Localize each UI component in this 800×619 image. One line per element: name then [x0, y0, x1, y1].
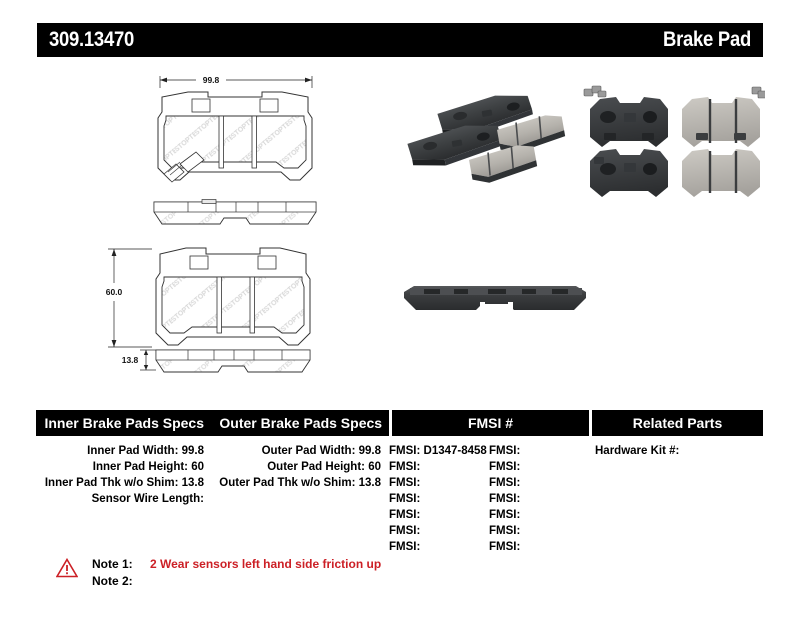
- note-label: Note 2:: [92, 573, 144, 590]
- fmsi-label: FMSI:: [489, 461, 520, 473]
- note-label: Note 1:: [92, 556, 144, 573]
- spec-value: 60: [191, 461, 204, 473]
- pad-edge-view-lower: 13.8: [100, 342, 330, 382]
- dimension-thickness: 13.8: [122, 355, 139, 365]
- inner-specs-column: Inner Pad Width: 99.8 Inner Pad Height: …: [36, 443, 212, 555]
- fmsi-label: FMSI:: [389, 541, 420, 553]
- table-header-group-pads: Inner Brake Pads Specs Outer Brake Pads …: [36, 410, 389, 436]
- fmsi-row: FMSI:: [389, 491, 489, 507]
- technical-drawings: STOPTECH STOPTECH 99.8: [0, 60, 800, 390]
- fmsi-row: FMSI:: [389, 523, 489, 539]
- related-parts-row: Hardware Kit #:: [595, 443, 760, 459]
- fmsi-row: FMSI:: [489, 459, 589, 475]
- fmsi-label: FMSI:: [389, 445, 420, 457]
- pad-edge-view-upper: [140, 198, 330, 230]
- spec-label: Inner Pad Width:: [87, 445, 178, 457]
- fmsi-row: FMSI:: [389, 539, 489, 555]
- spec-row: Sensor Wire Length:: [36, 491, 212, 507]
- fmsi-label: FMSI:: [489, 525, 520, 537]
- table-body: Inner Pad Width: 99.8 Inner Pad Height: …: [36, 443, 763, 555]
- fmsi-label: FMSI:: [489, 509, 520, 521]
- fmsi-row: FMSI:: [489, 507, 589, 523]
- spec-value: 99.8: [182, 445, 204, 457]
- outer-specs-column: Outer Pad Width: 99.8 Outer Pad Height: …: [212, 443, 389, 555]
- fmsi-row: FMSI:: [489, 539, 589, 555]
- dimension-width: 99.8: [203, 75, 220, 85]
- spec-row: Inner Pad Height: 60: [36, 459, 212, 475]
- table-header-row: Inner Brake Pads Specs Outer Brake Pads …: [36, 410, 763, 436]
- spec-label: Sensor Wire Length:: [92, 493, 204, 505]
- fmsi-label: FMSI:: [389, 493, 420, 505]
- fmsi-row: FMSI:: [489, 523, 589, 539]
- fmsi-label: FMSI:: [389, 509, 420, 521]
- note-row: Note 1: 2 Wear sensors left hand side fr…: [92, 556, 381, 573]
- spec-row: Outer Pad Width: 99.8: [212, 443, 389, 459]
- product-type: Brake Pad: [663, 28, 751, 52]
- spec-value: 99.8: [359, 445, 381, 457]
- part-number: 309.13470: [49, 28, 134, 52]
- spec-value: 13.8: [359, 477, 381, 489]
- spec-label: Outer Pad Height:: [267, 461, 365, 473]
- table-header-inner-specs: Inner Brake Pads Specs: [36, 415, 213, 431]
- spec-row: Inner Pad Thk w/o Shim: 13.8: [36, 475, 212, 491]
- spec-label: Outer Pad Width:: [262, 445, 356, 457]
- note-row: Note 2:: [92, 573, 381, 590]
- spec-value: 60: [368, 461, 381, 473]
- related-parts-label: Hardware Kit #:: [595, 445, 679, 457]
- fmsi-label: FMSI:: [389, 477, 420, 489]
- notes-section: Note 1: 2 Wear sensors left hand side fr…: [56, 556, 381, 590]
- spec-row: Inner Pad Width: 99.8: [36, 443, 212, 459]
- product-photo-angled: [392, 88, 572, 198]
- dimension-height: 60.0: [106, 287, 123, 297]
- spec-label: Outer Pad Thk w/o Shim:: [219, 477, 355, 489]
- table-header-fmsi: FMSI #: [392, 410, 589, 436]
- warning-triangle-icon: [56, 558, 78, 578]
- fmsi-label: FMSI:: [389, 461, 420, 473]
- fmsi-row: FMSI:: [489, 443, 589, 459]
- spec-label: Inner Pad Thk w/o Shim:: [45, 477, 179, 489]
- spec-label: Inner Pad Height:: [93, 461, 188, 473]
- table-header-related-parts: Related Parts: [592, 410, 763, 436]
- fmsi-value: D1347-8458: [424, 445, 487, 457]
- spec-value: 13.8: [182, 477, 204, 489]
- note-text: 2 Wear sensors left hand side friction u…: [150, 556, 381, 573]
- fmsi-row: FMSI: D1347-8458: [389, 443, 489, 459]
- header-bar: 309.13470 Brake Pad: [37, 23, 763, 57]
- product-photo-flat-grid: [570, 85, 765, 197]
- spec-row: Outer Pad Thk w/o Shim: 13.8: [212, 475, 389, 491]
- table-header-outer-specs: Outer Brake Pads Specs: [213, 415, 390, 431]
- fmsi-label: FMSI:: [489, 445, 520, 457]
- related-parts-column: Hardware Kit #:: [589, 443, 760, 555]
- fmsi-row: FMSI:: [389, 475, 489, 491]
- fmsi-label: FMSI:: [489, 477, 520, 489]
- fmsi-label: FMSI:: [489, 541, 520, 553]
- fmsi-label: FMSI:: [489, 493, 520, 505]
- spec-row: Outer Pad Height: 60: [212, 459, 389, 475]
- fmsi-row: FMSI:: [389, 459, 489, 475]
- fmsi-column-b: FMSI: FMSI: FMSI: FMSI: FMSI: FMSI:: [489, 443, 589, 555]
- fmsi-label: FMSI:: [389, 525, 420, 537]
- fmsi-row: FMSI:: [489, 475, 589, 491]
- fmsi-row: FMSI:: [389, 507, 489, 523]
- product-photo-edge-single: [396, 272, 596, 328]
- pad-plan-view-top: STOPTECH STOPTECH 99.8: [140, 68, 330, 193]
- spec-table: Inner Brake Pads Specs Outer Brake Pads …: [36, 410, 763, 555]
- fmsi-column-a: FMSI: D1347-8458 FMSI: FMSI: FMSI: FMSI:…: [389, 443, 489, 555]
- fmsi-row: FMSI:: [489, 491, 589, 507]
